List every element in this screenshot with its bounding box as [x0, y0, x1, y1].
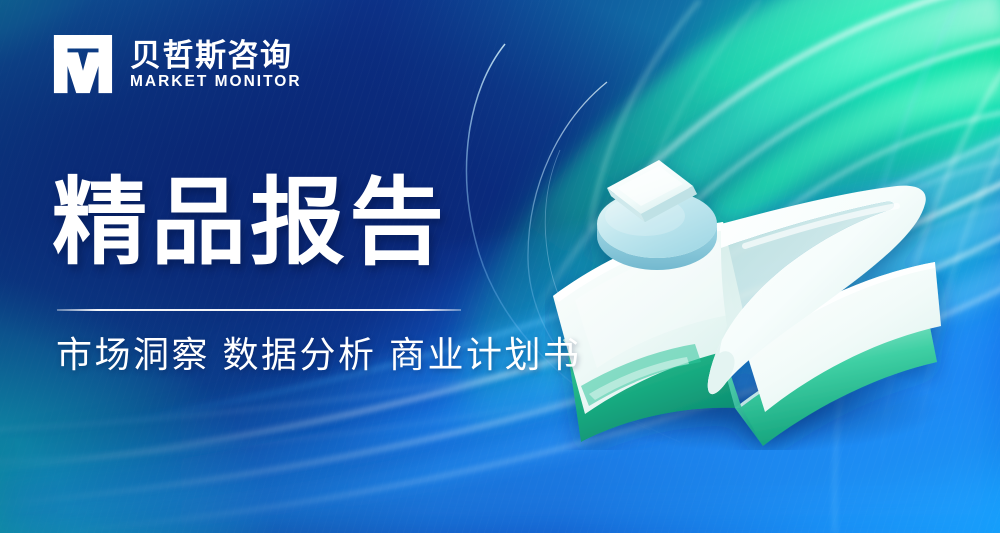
- promo-banner: 贝哲斯咨询 MARKET MONITOR 精品报告 市场洞察 数据分析 商业计划…: [0, 0, 1000, 533]
- brand-logo-text: 贝哲斯咨询 MARKET MONITOR: [130, 38, 302, 90]
- brand-name-cn: 贝哲斯咨询: [130, 40, 302, 71]
- page-subtitle: 市场洞察 数据分析 商业计划书: [56, 332, 582, 377]
- title-divider: [57, 309, 461, 311]
- page-title: 精品报告: [52, 172, 448, 275]
- brand-logo[interactable]: 贝哲斯咨询 MARKET MONITOR: [52, 33, 302, 95]
- brand-name-en: MARKET MONITOR: [130, 74, 302, 90]
- market-monitor-m-logo-icon: [52, 33, 114, 95]
